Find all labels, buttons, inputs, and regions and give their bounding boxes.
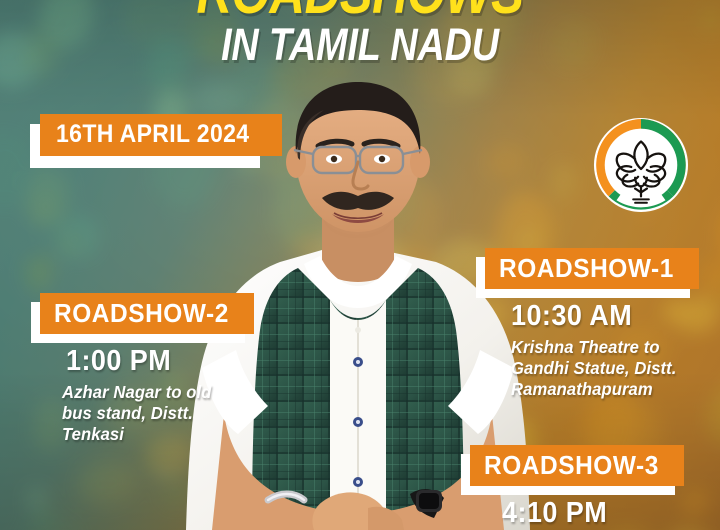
roadshow-1-label: ROADSHOW-1: [499, 255, 674, 281]
roadshow-2-time: 1:00 PM: [66, 345, 241, 377]
roadshow-poster: ROADSHOWS IN TAMIL NADU 16TH APRIL 2024: [0, 0, 720, 530]
roadshow-1-time: 10:30 AM: [511, 300, 706, 332]
date-badge: 16TH APRIL 2024: [40, 114, 282, 156]
roadshow-3-time: 4:10 PM: [502, 497, 671, 529]
date-badge-box: 16TH APRIL 2024: [40, 114, 282, 156]
roadshow-1-place: Krishna Theatre to Gandhi Statue, Distt.…: [511, 337, 711, 400]
roadshow-2-block: ROADSHOW-2 1:00 PM Azhar Nagar to old bu…: [40, 293, 254, 445]
roadshow-2-badge: ROADSHOW-2: [40, 293, 254, 334]
roadshow-3-badge: ROADSHOW-3: [470, 445, 684, 486]
roadshow-2-place: Azhar Nagar to old bus stand, Distt. Ten…: [62, 382, 228, 445]
roadshow-3-label: ROADSHOW-3: [484, 452, 659, 478]
date-label: 16TH APRIL 2024: [56, 122, 249, 147]
roadshow-1-badge: ROADSHOW-1: [485, 248, 699, 289]
bjp-lotus-logo: [592, 116, 690, 214]
roadshow-2-label: ROADSHOW-2: [54, 300, 229, 326]
roadshow-3-block: ROADSHOW-3 4:10 PM: [470, 445, 684, 529]
roadshow-1-block: ROADSHOW-1 10:30 AM Krishna Theatre to G…: [485, 248, 720, 400]
